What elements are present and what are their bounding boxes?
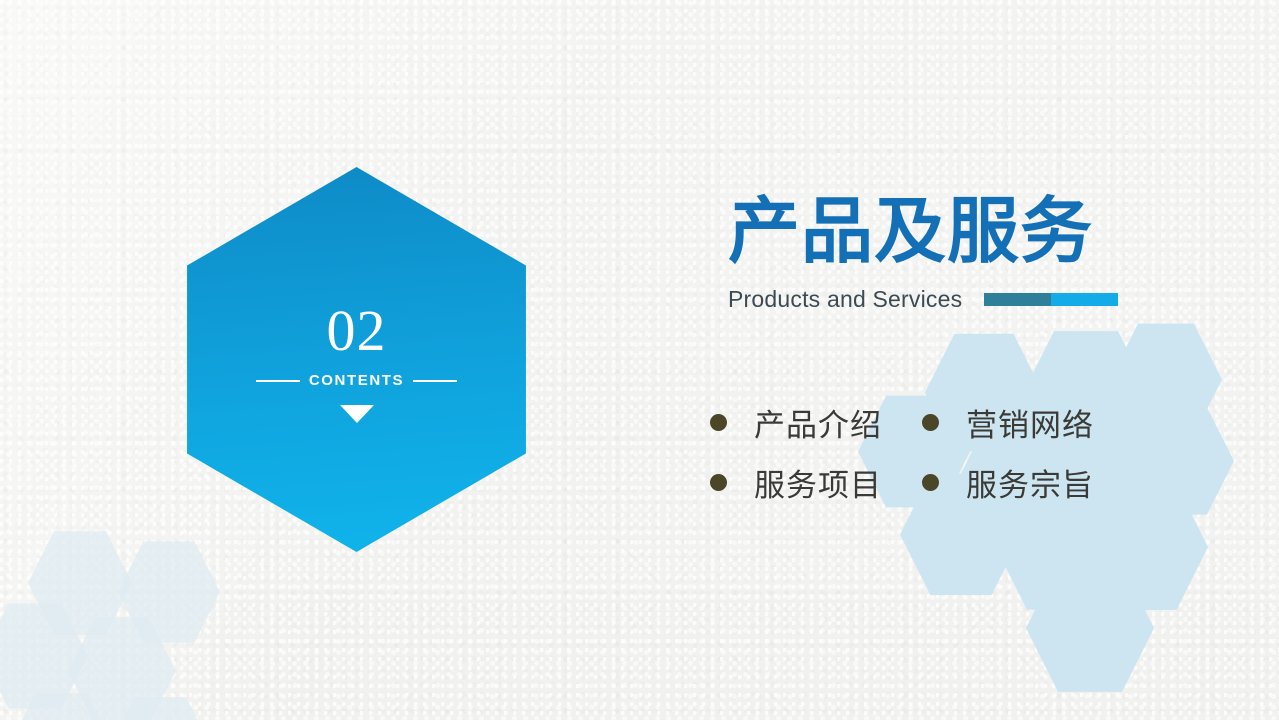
bullet-dot-icon [710, 474, 727, 491]
hexagon-decoration [10, 690, 112, 720]
bullet-dot-icon [922, 474, 939, 491]
subtitle-row: Products and Services [728, 286, 1158, 312]
bullet-dot-icon [710, 414, 727, 431]
agenda-list: 产品介绍 营销网络 服务项目 服务宗旨 [710, 392, 1134, 512]
contents-hexagon-content: 02 CONTENTS [185, 167, 528, 552]
list-item-label: 服务项目 [754, 460, 882, 505]
contents-hexagon[interactable]: 02 CONTENTS [185, 167, 528, 552]
list-item[interactable]: 服务宗旨 [922, 452, 1134, 512]
page-subtitle: Products and Services [728, 286, 962, 313]
triangle-down-icon [340, 405, 374, 423]
hexagon-decoration [108, 694, 212, 720]
hexagon-decoration [68, 614, 176, 720]
list-item[interactable]: 营销网络 [922, 392, 1134, 452]
slide-root: 02 CONTENTS 产品及服务 Products and Services … [0, 0, 1279, 720]
list-item-label: 营销网络 [966, 400, 1094, 445]
list-item[interactable]: 服务项目 [710, 452, 922, 512]
page-title: 产品及服务 [728, 196, 1158, 268]
list-item-label: 服务宗旨 [966, 460, 1094, 505]
accent-bar-dark-segment [984, 293, 1051, 306]
contents-label-row: CONTENTS [256, 372, 457, 389]
hexagon-decoration [0, 600, 88, 712]
section-number: 02 [327, 302, 387, 360]
title-block: 产品及服务 Products and Services [728, 196, 1158, 312]
accent-bar-light-segment [1051, 293, 1118, 306]
hexagon-decoration [28, 528, 132, 638]
contents-label: CONTENTS [309, 372, 404, 389]
accent-bar [984, 293, 1118, 306]
hexagon-decoration [1026, 560, 1154, 696]
list-item[interactable]: 产品介绍 [710, 392, 922, 452]
hexagon-decoration [1126, 404, 1234, 518]
rule-left-icon [256, 380, 300, 382]
bullet-dot-icon [922, 414, 939, 431]
list-item-label: 产品介绍 [754, 400, 882, 445]
hexagon-decoration [118, 538, 220, 646]
rule-right-icon [413, 380, 457, 382]
